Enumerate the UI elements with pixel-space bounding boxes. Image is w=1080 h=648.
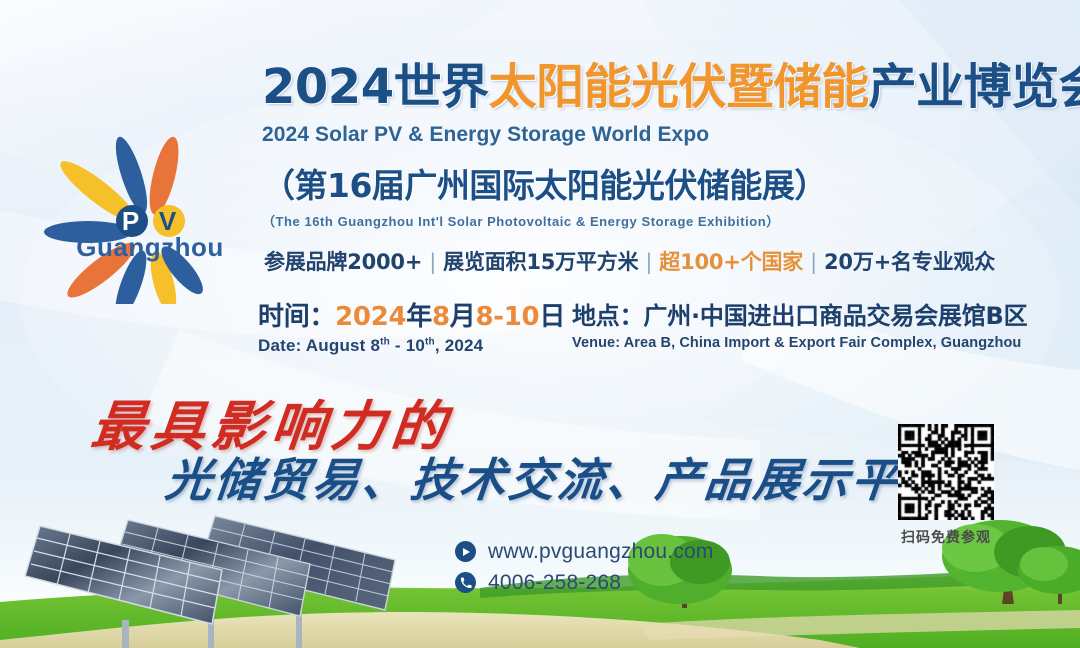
venue-cn: 地点：广州·中国进出口商品交易会展馆B区	[572, 296, 1027, 331]
date-cn: 时间：2024年8月8-10日	[258, 296, 565, 333]
date-en-dash: -	[390, 336, 406, 355]
date-year: 2024	[335, 302, 406, 332]
title-seg-2: 太阳能光伏暨储能	[489, 59, 869, 115]
contact-block: www.pvguangzhou.com 4006-258-268	[455, 536, 714, 598]
contact-website-row[interactable]: www.pvguangzhou.com	[455, 536, 714, 567]
title-seg-3: 产业博览会	[869, 59, 1080, 115]
date-month: 8	[432, 302, 450, 332]
stats-separator-2: |	[645, 250, 652, 274]
date-en-d2: 10	[406, 336, 425, 355]
sub-title-cn: （第16届广州国际太阳能光伏储能展）	[262, 159, 1062, 207]
main-title-cn: 2024世界太阳能光伏暨储能产业博览会	[262, 62, 1062, 113]
date-month-unit: 月	[450, 302, 476, 332]
date-day-unit: 日	[539, 302, 565, 332]
date-block: 时间：2024年8月8-10日 Date: August 8th - 10th,…	[258, 296, 565, 356]
title-seg-1: 2024世界	[262, 59, 489, 115]
stat-item-countries: 超100+个国家	[659, 250, 803, 274]
play-icon	[455, 541, 476, 562]
contact-phone[interactable]: 4006-258-268	[488, 571, 621, 595]
expo-poster: PV Guangzhou 2024世界太阳能光伏暨储能产业博览会 2024 So…	[0, 0, 1080, 648]
sub-title-en: （The 16th Guangzhou Int'l Solar Photovol…	[262, 211, 1062, 230]
qr-caption: 扫码免费参观	[898, 527, 994, 547]
stats-bar: 参展品牌2000+|展览面积15万平方米|超100+个国家|20万+名专业观众	[264, 246, 995, 276]
stat-item-visitors: 20万+名专业观众	[824, 250, 995, 274]
date-year-unit: 年	[406, 302, 432, 332]
contact-phone-row[interactable]: 4006-258-268	[455, 567, 714, 598]
venue-block: 地点：广州·中国进出口商品交易会展馆B区 Venue: Area B, Chin…	[572, 296, 1027, 351]
date-en-prefix: Date: August	[258, 336, 370, 355]
stats-separator-1: |	[429, 250, 436, 274]
date-days: 8-10	[475, 302, 539, 332]
solar-panel-array	[10, 498, 440, 648]
date-en-d1: 8	[370, 336, 380, 355]
logo-wordmark: Guangzhou	[40, 232, 260, 263]
qr-block: 扫码免费参观	[898, 424, 994, 547]
solar-panels-graphic	[10, 498, 440, 648]
date-en-suffix: , 2024	[435, 336, 483, 355]
contact-website[interactable]: www.pvguangzhou.com	[488, 540, 714, 564]
main-title-en: 2024 Solar PV & Energy Storage World Exp…	[262, 123, 1062, 147]
stat-item-area: 展览面积15万平方米	[443, 250, 638, 274]
date-en-sup2: th	[425, 336, 435, 347]
stat-item-brands: 参展品牌2000+	[264, 250, 422, 274]
phone-icon	[455, 572, 476, 593]
date-label-cn: 时间：	[258, 302, 335, 332]
stats-separator-3: |	[810, 250, 817, 274]
pv-guangzhou-logo: PV Guangzhou	[40, 104, 260, 304]
venue-en: Venue: Area B, China Import & Export Fai…	[572, 335, 1027, 351]
date-en: Date: August 8th - 10th, 2024	[258, 336, 565, 356]
qr-code[interactable]	[898, 424, 994, 520]
title-block: 2024世界太阳能光伏暨储能产业博览会 2024 Solar PV & Ener…	[262, 62, 1062, 230]
date-en-sup1: th	[380, 336, 390, 347]
